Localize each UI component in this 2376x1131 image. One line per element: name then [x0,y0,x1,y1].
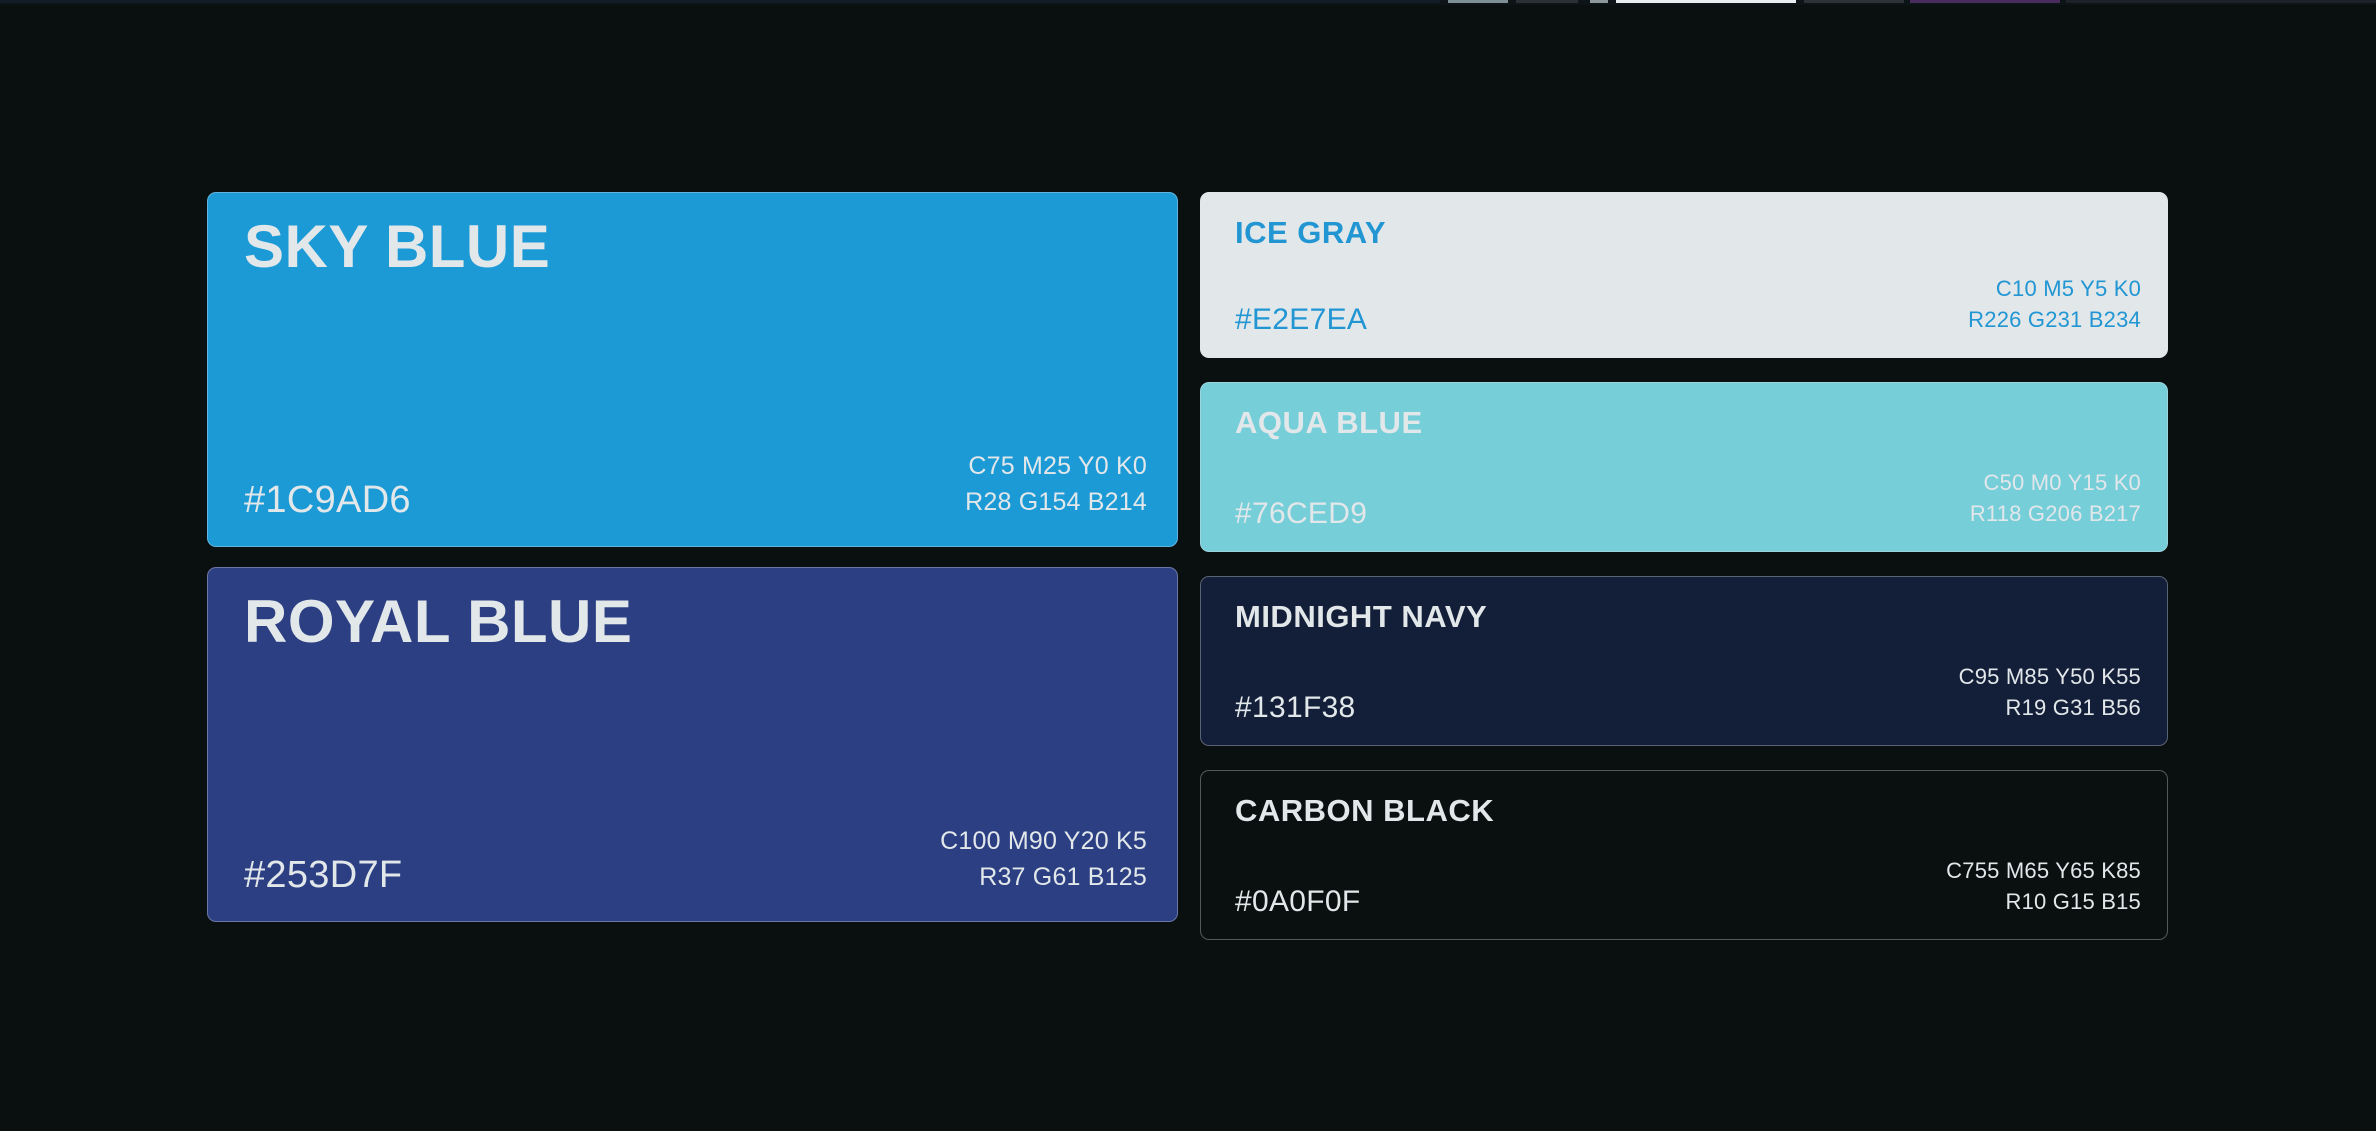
top-bar-segment [2066,0,2376,3]
top-bar-segment [0,0,1440,3]
swatch-name-label: ICE GRAY [1235,217,1386,250]
swatch-color-values: C100 M90 Y20 K5 R37 G61 B125 [940,824,1147,895]
swatch-cmyk-value: C75 M25 Y0 K0 [965,449,1147,485]
swatch-name-label: MIDNIGHT NAVY [1235,601,1487,634]
top-bar-segment [1804,0,1904,3]
swatch-rgb-value: R226 G231 B234 [1968,304,2141,335]
swatch-rgb-value: R118 G206 B217 [1970,498,2141,529]
top-bar-segment [1590,0,1608,3]
swatch-cmyk-value: C755 M65 Y65 K85 [1946,855,2141,886]
color-swatch-card-ice-gray[interactable]: ICE GRAY #E2E7EA C10 M5 Y5 K0 R226 G231 … [1200,192,2168,358]
swatch-hex-value: #253D7F [244,854,402,897]
swatch-color-values: C50 M0 Y15 K0 R118 G206 B217 [1970,467,2141,529]
palette-left-column: SKY BLUE #1C9AD6 C75 M25 Y0 K0 R28 G154 … [207,192,1178,936]
swatch-color-values: C755 M65 Y65 K85 R10 G15 B15 [1946,855,2141,917]
swatch-name-label: ROYAL BLUE [244,590,632,653]
top-bar-segment [1516,0,1578,3]
swatch-rgb-value: R28 G154 B214 [965,485,1147,521]
color-swatch-card-sky-blue[interactable]: SKY BLUE #1C9AD6 C75 M25 Y0 K0 R28 G154 … [207,192,1178,547]
swatch-hex-value: #76CED9 [1235,497,1367,531]
color-swatch-card-carbon-black[interactable]: CARBON BLACK #0A0F0F C755 M65 Y65 K85 R1… [1200,770,2168,940]
swatch-color-values: C10 M5 Y5 K0 R226 G231 B234 [1968,273,2141,335]
swatch-cmyk-value: C95 M85 Y50 K55 [1959,661,2141,692]
swatch-hex-value: #1C9AD6 [244,479,411,522]
top-bar-segment [1448,0,1508,3]
swatch-color-values: C75 M25 Y0 K0 R28 G154 B214 [965,449,1147,520]
swatch-name-label: AQUA BLUE [1235,407,1423,440]
color-swatch-card-royal-blue[interactable]: ROYAL BLUE #253D7F C100 M90 Y20 K5 R37 G… [207,567,1178,922]
swatch-cmyk-value: C100 M90 Y20 K5 [940,824,1147,860]
swatch-color-values: C95 M85 Y50 K55 R19 G31 B56 [1959,661,2141,723]
palette-right-column: ICE GRAY #E2E7EA C10 M5 Y5 K0 R226 G231 … [1200,192,2168,936]
swatch-rgb-value: R37 G61 B125 [940,860,1147,896]
swatch-rgb-value: R10 G15 B15 [1946,886,2141,917]
color-palette-grid: SKY BLUE #1C9AD6 C75 M25 Y0 K0 R28 G154 … [207,192,2168,936]
top-window-bar-sliver [0,0,2376,5]
swatch-cmyk-value: C10 M5 Y5 K0 [1968,273,2141,304]
color-swatch-card-aqua-blue[interactable]: AQUA BLUE #76CED9 C50 M0 Y15 K0 R118 G20… [1200,382,2168,552]
top-bar-segment [1616,0,1796,3]
swatch-name-label: CARBON BLACK [1235,795,1494,828]
swatch-hex-value: #E2E7EA [1235,303,1367,337]
color-swatch-card-midnight-navy[interactable]: MIDNIGHT NAVY #131F38 C95 M85 Y50 K55 R1… [1200,576,2168,746]
swatch-rgb-value: R19 G31 B56 [1959,692,2141,723]
swatch-hex-value: #131F38 [1235,691,1356,725]
swatch-name-label: SKY BLUE [244,215,550,278]
swatch-hex-value: #0A0F0F [1235,885,1361,919]
swatch-cmyk-value: C50 M0 Y15 K0 [1970,467,2141,498]
top-bar-segment [1910,0,2060,3]
